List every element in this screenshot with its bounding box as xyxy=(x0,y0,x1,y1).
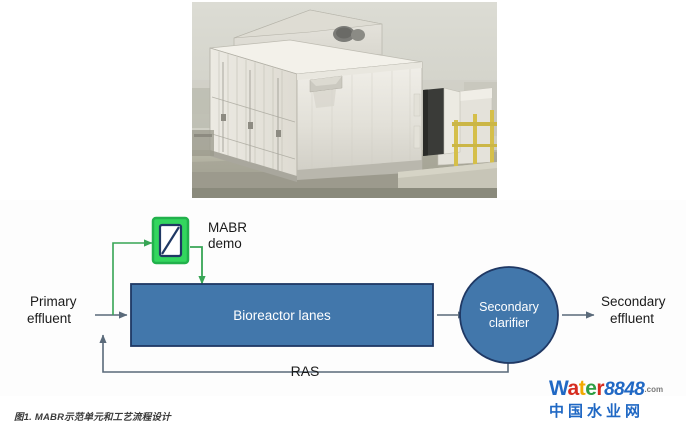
watermark-dotcom: .com xyxy=(644,385,663,394)
process-flow-diagram: MABR demo Bioreactor lanes Secondary cla… xyxy=(0,200,686,396)
ras-label: RAS xyxy=(291,363,320,379)
watermark-number: 8848 xyxy=(604,379,644,400)
figure-caption: 图1. MABR示范单元和工艺流程设计 xyxy=(14,409,171,423)
clarifier-label-line1: Secondary xyxy=(479,300,540,314)
mabr-container-photo-graphic xyxy=(192,2,497,198)
clarifier-label-line2: clarifier xyxy=(489,316,529,330)
watermark-wordmark: Water8848.com xyxy=(549,378,684,401)
bioreactor-label: Bioreactor lanes xyxy=(233,308,331,323)
mabr-demo-label-line2: demo xyxy=(208,236,242,251)
inlet-label-line1: Primary xyxy=(30,294,77,309)
outlet-label-line1: Secondary xyxy=(601,294,666,309)
mabr-demo-label-line1: MABR xyxy=(208,220,247,235)
inlet-label-line2: effluent xyxy=(27,311,71,326)
process-flow-diagram-graphic: MABR demo Bioreactor lanes Secondary cla… xyxy=(0,200,686,396)
outlet-label-line2: effluent xyxy=(610,311,654,326)
watermark-letter-r: r xyxy=(596,377,604,400)
watermark-letter-w: W xyxy=(549,377,568,400)
site-watermark: Water8848.com 中国水业网 xyxy=(549,378,684,428)
clarifier-node: Secondary clarifier xyxy=(460,267,558,363)
mabr-demo-node xyxy=(153,218,188,263)
clarifier-ellipse xyxy=(460,267,558,363)
watermark-letter-a: a xyxy=(568,377,579,400)
watermark-letter-e: e xyxy=(585,377,596,400)
bioreactor-node: Bioreactor lanes xyxy=(131,284,433,346)
figure-page: MABR demo Bioreactor lanes Secondary cla… xyxy=(0,0,686,433)
mabr-container-photo xyxy=(192,2,497,198)
watermark-chinese-name: 中国水业网 xyxy=(549,402,684,422)
